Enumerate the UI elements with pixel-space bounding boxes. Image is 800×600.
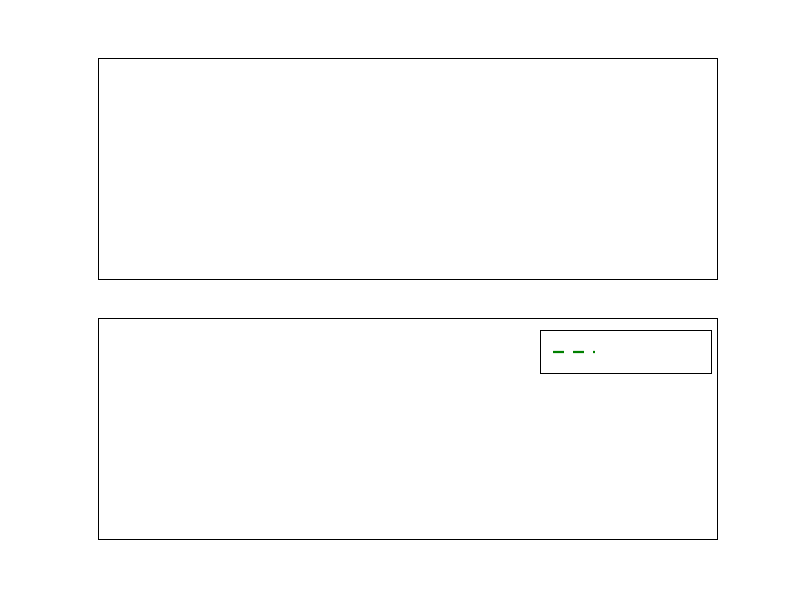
legend[interactable] — [540, 330, 712, 374]
top-histogram-plot — [99, 59, 717, 279]
figure-canvas — [0, 0, 800, 600]
top-histogram-axes — [98, 58, 718, 280]
mag-limit-line-icon — [551, 345, 597, 359]
